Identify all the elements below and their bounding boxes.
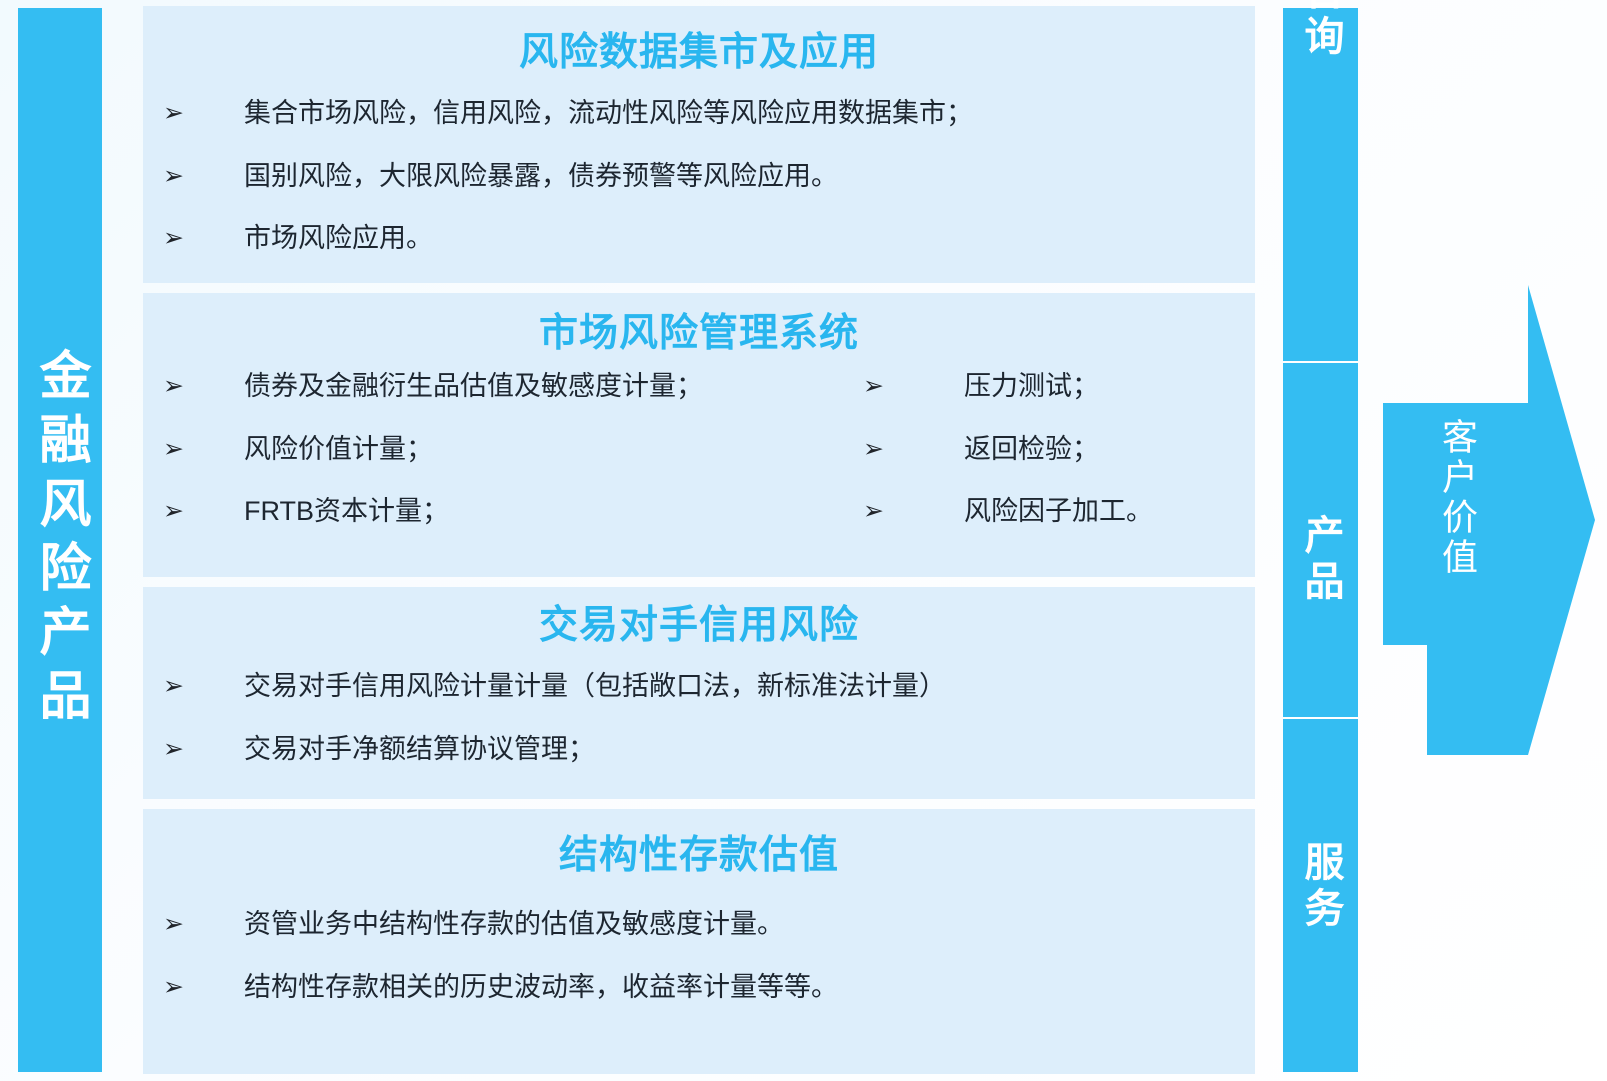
arrow-bullet-icon: ➢ [143, 160, 189, 191]
list-item: ➢ 风险价值计量； [143, 433, 843, 467]
customer-value-arrow: 客户价值 [1383, 270, 1595, 770]
list-item: ➢ 结构性存款相关的历史波动率，收益率计量等等。 [143, 971, 1255, 1005]
section-counterparty-credit-risk: 交易对手信用风险 ➢ 交易对手信用风险计量计量（包括敞口法，新标准法计量） ➢ … [143, 587, 1255, 799]
two-column-bullets: ➢ 债券及金融衍生品估值及敏感度计量； ➢ 风险价值计量； ➢ FRTB资本计量… [143, 370, 1255, 558]
arrow-bullet-icon: ➢ [143, 370, 189, 401]
stage-consulting: 咨询 [1283, 8, 1358, 361]
list-item-text: 市场风险应用。 [189, 222, 1255, 256]
bullet-list: ➢ 集合市场风险，信用风险，流动性风险等风险应用数据集市； ➢ 国别风险，大限风… [143, 97, 1255, 256]
list-item-text: 结构性存款相关的历史波动率，收益率计量等等。 [189, 971, 1255, 1005]
list-item-text: 返回检验； [889, 433, 1255, 467]
arrow-bullet-icon: ➢ [143, 97, 189, 128]
list-item-text: FRTB资本计量； [189, 495, 843, 529]
list-item: ➢ 交易对手净额结算协议管理； [143, 733, 1255, 767]
list-item: ➢ 资管业务中结构性存款的估值及敏感度计量。 [143, 908, 1255, 942]
list-item: ➢ 返回检验； [843, 433, 1255, 467]
list-item-text: 压力测试； [889, 370, 1255, 404]
left-category-bar: 金融风险产品 [18, 8, 102, 1072]
stage-label: 产品 [1301, 514, 1341, 606]
section-market-risk-system: 市场风险管理系统 ➢ 债券及金融衍生品估值及敏感度计量； ➢ 风险价值计量； ➢… [143, 293, 1255, 577]
section-title: 风险数据集市及应用 [143, 6, 1255, 75]
arrow-label: 客户价值 [1439, 418, 1475, 578]
list-item-text: 交易对手净额结算协议管理； [189, 733, 1255, 767]
list-item-text: 资管业务中结构性存款的估值及敏感度计量。 [189, 908, 1255, 942]
list-item: ➢ 集合市场风险，信用风险，流动性风险等风险应用数据集市； [143, 97, 1255, 131]
arrow-bullet-icon: ➢ [143, 733, 189, 764]
list-item-text: 风险因子加工。 [889, 495, 1255, 529]
bullet-list-left: ➢ 债券及金融衍生品估值及敏感度计量； ➢ 风险价值计量； ➢ FRTB资本计量… [143, 370, 843, 558]
stage-label: 服务 [1301, 841, 1341, 933]
service-stages-column: 咨询 产品 服务 [1283, 8, 1358, 1072]
list-item: ➢ 压力测试； [843, 370, 1255, 404]
list-item: ➢ 债券及金融衍生品估值及敏感度计量； [143, 370, 843, 404]
left-category-label: 金融风险产品 [34, 348, 86, 732]
list-item: ➢ 风险因子加工。 [843, 495, 1255, 529]
bullet-list-right: ➢ 压力测试； ➢ 返回检验； ➢ 风险因子加工。 [843, 370, 1255, 558]
bullet-list: ➢ 交易对手信用风险计量计量（包括敞口法，新标准法计量） ➢ 交易对手净额结算协… [143, 670, 1255, 767]
list-item-text: 债券及金融衍生品估值及敏感度计量； [189, 370, 843, 404]
list-item-text: 集合市场风险，信用风险，流动性风险等风险应用数据集市； [189, 97, 1255, 131]
section-structured-deposit-valuation: 结构性存款估值 ➢ 资管业务中结构性存款的估值及敏感度计量。 ➢ 结构性存款相关… [143, 809, 1255, 1074]
section-title: 结构性存款估值 [143, 809, 1255, 878]
content-panel: 风险数据集市及应用 ➢ 集合市场风险，信用风险，流动性风险等风险应用数据集市； … [143, 6, 1255, 1074]
arrow-bullet-icon: ➢ [143, 670, 189, 701]
arrow-bullet-icon: ➢ [843, 495, 889, 526]
arrow-bullet-icon: ➢ [143, 971, 189, 1002]
stage-service: 服务 [1283, 717, 1358, 1072]
section-risk-data-mart: 风险数据集市及应用 ➢ 集合市场风险，信用风险，流动性风险等风险应用数据集市； … [143, 6, 1255, 283]
arrow-bullet-icon: ➢ [143, 433, 189, 464]
stage-label: 咨询 [1301, 0, 1341, 61]
section-title: 交易对手信用风险 [143, 587, 1255, 648]
section-title: 市场风险管理系统 [143, 293, 1255, 356]
list-item-text: 交易对手信用风险计量计量（包括敞口法，新标准法计量） [189, 670, 1255, 704]
arrow-bullet-icon: ➢ [143, 495, 189, 526]
stage-product: 产品 [1283, 361, 1358, 716]
slide-canvas: 金融风险产品 风险数据集市及应用 ➢ 集合市场风险，信用风险，流动性风险等风险应… [0, 0, 1607, 1081]
arrow-bullet-icon: ➢ [843, 370, 889, 401]
list-item-text: 国别风险，大限风险暴露，债券预警等风险应用。 [189, 160, 1255, 194]
list-item: ➢ 国别风险，大限风险暴露，债券预警等风险应用。 [143, 160, 1255, 194]
arrow-bullet-icon: ➢ [143, 908, 189, 939]
arrow-bullet-icon: ➢ [843, 433, 889, 464]
list-item: ➢ 交易对手信用风险计量计量（包括敞口法，新标准法计量） [143, 670, 1255, 704]
list-item: ➢ 市场风险应用。 [143, 222, 1255, 256]
right-arrow-icon [1383, 270, 1595, 770]
list-item: ➢ FRTB资本计量； [143, 495, 843, 529]
list-item-text: 风险价值计量； [189, 433, 843, 467]
bullet-list: ➢ 资管业务中结构性存款的估值及敏感度计量。 ➢ 结构性存款相关的历史波动率，收… [143, 908, 1255, 1005]
arrow-bullet-icon: ➢ [143, 222, 189, 253]
